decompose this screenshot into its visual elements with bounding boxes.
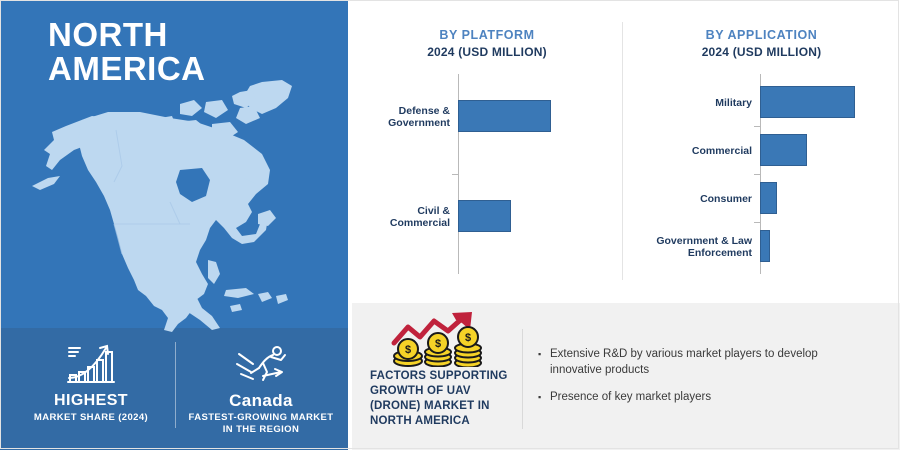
axis-tick (754, 222, 761, 223)
list-item: ▪ Extensive R&D by various market player… (538, 346, 868, 378)
category-label: Consumer (700, 193, 752, 206)
factors-panel: $ $ $ FACTORS SUPPORTING GROWTH OF UAV (… (352, 303, 900, 450)
bullet-square-icon: ▪ (538, 389, 550, 405)
factors-divider (522, 329, 523, 429)
growth-bar-chart-icon (16, 340, 166, 386)
chart-by-application-plot: Military Commercial Consumer Government … (623, 74, 900, 274)
bar-consumer[interactable] (760, 182, 777, 214)
stat-highest-market-share: HIGHEST MARKET SHARE (2024) (16, 340, 166, 424)
bar-row: Military (623, 86, 760, 120)
bullet-square-icon: ▪ (538, 346, 550, 362)
stat-fastest-label: FASTEST-GROWING MARKET IN THE REGION (186, 412, 336, 436)
bar-commercial[interactable] (760, 134, 807, 166)
chart-by-application-subtitle: 2024 (USD MILLION) (623, 44, 900, 60)
bar-row: Government & Law Enforcement (623, 230, 760, 264)
chart-by-application-header: BY APPLICATION 2024 (USD MILLION) (623, 0, 900, 60)
stat-fastest-country: Canada (186, 392, 336, 410)
category-label: Defense & Government (388, 105, 450, 130)
rocket-person-icon (186, 340, 336, 386)
factors-bullet-list: ▪ Extensive R&D by various market player… (538, 346, 868, 416)
bar-row: Consumer (623, 182, 760, 216)
chart-by-platform: BY PLATFORM 2024 (USD MILLION) Defense &… (352, 0, 622, 303)
category-label: Military (715, 97, 752, 110)
chart-by-platform-title: BY PLATFORM (352, 28, 622, 43)
north-america-map-icon (30, 78, 330, 333)
chart-by-platform-header: BY PLATFORM 2024 (USD MILLION) (352, 0, 622, 60)
bar-government-law-enforcement[interactable] (760, 230, 770, 262)
category-label: Government & Law Enforcement (656, 235, 752, 260)
svg-text:$: $ (405, 344, 411, 356)
infographic-page: NORTH AMERICA (0, 0, 900, 450)
axis-tick (754, 126, 761, 127)
chart-by-application-title: BY APPLICATION (623, 28, 900, 43)
stat-divider (175, 342, 176, 428)
factors-title: FACTORS SUPPORTING GROWTH OF UAV (DRONE)… (370, 369, 520, 429)
bar-civil-commercial[interactable] (458, 200, 511, 232)
svg-text:$: $ (435, 338, 441, 350)
chart-by-platform-plot: Defense & Government Civil & Commercial (352, 74, 622, 274)
bar-row: Defense & Government (352, 100, 458, 134)
page-title: NORTH AMERICA (48, 18, 206, 86)
chart-by-application: BY APPLICATION 2024 (USD MILLION) Milita… (623, 0, 900, 303)
list-item-text: Presence of key market players (550, 389, 711, 405)
svg-text:$: $ (465, 332, 471, 344)
category-label: Commercial (692, 145, 752, 158)
bar-row: Commercial (623, 134, 760, 168)
axis-tick (754, 174, 761, 175)
category-label: Civil & Commercial (390, 205, 450, 230)
bar-defense-government[interactable] (458, 100, 551, 132)
bar-military[interactable] (760, 86, 855, 118)
charts-area: BY PLATFORM 2024 (USD MILLION) Defense &… (352, 0, 900, 303)
list-item-text: Extensive R&D by various market players … (550, 346, 868, 378)
stat-highest-value: HIGHEST (16, 392, 166, 410)
list-item: ▪ Presence of key market players (538, 389, 868, 405)
stat-highest-label: MARKET SHARE (2024) (16, 412, 166, 424)
bar-row: Civil & Commercial (352, 200, 458, 234)
region-panel: NORTH AMERICA (0, 0, 348, 450)
chart-by-platform-subtitle: 2024 (USD MILLION) (352, 44, 622, 60)
stat-fastest-growing: Canada FASTEST-GROWING MARKET IN THE REG… (186, 340, 336, 436)
axis-tick (452, 174, 459, 175)
money-growth-icon: $ $ $ (384, 311, 492, 367)
